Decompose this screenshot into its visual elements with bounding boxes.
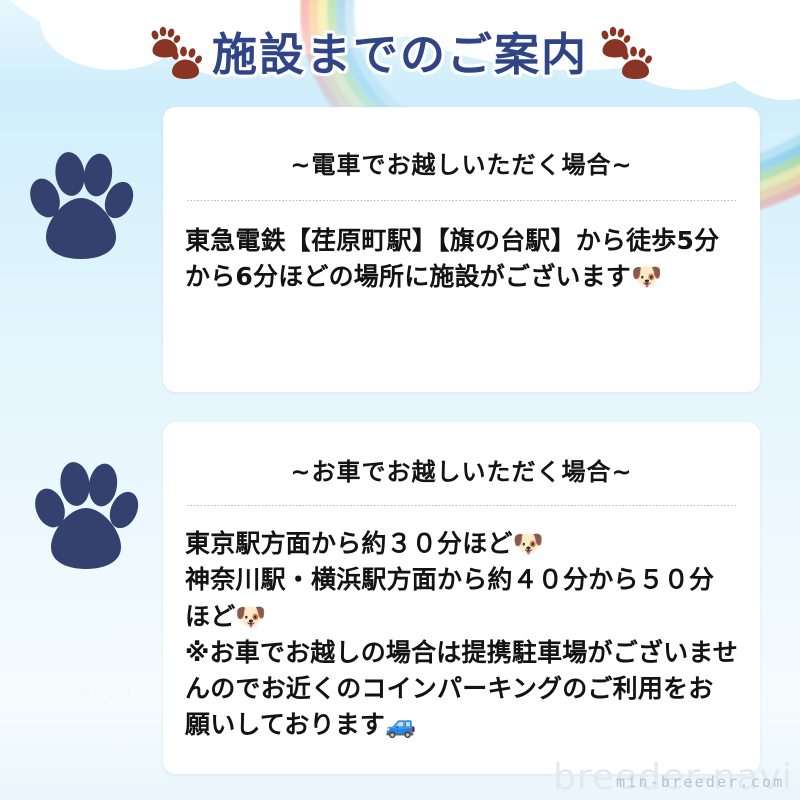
card-heading-train: ~電車でお越しいただく場合~	[163, 107, 760, 180]
page-canvas: 施設までのご案内	[0, 0, 800, 800]
card-heading-car: ~お車でお越しいただく場合~	[163, 422, 760, 487]
page-title: 施設までのご案内	[212, 32, 588, 77]
paw-print-icon-car-card	[33, 452, 139, 578]
card-body-train: 東急電鉄【荏原町駅】【旗の台駅】から徒歩5分から6分ほどの場所に施設がございます…	[163, 201, 760, 296]
card-body-car-line-3: ※お車でお越しの場合は提携駐車場がございませんのでお近くのコインパーキングのご利…	[185, 635, 738, 744]
card-body-car-line-2: 神奈川駅・横浜駅方面から約４０分から５０分ほど🐶	[185, 562, 738, 635]
watermark-faint: みんブリ	[78, 683, 134, 702]
page-header: 施設までのご案内	[0, 18, 800, 90]
info-card-train: ~電車でお越しいただく場合~ 東急電鉄【荏原町駅】【旗の台駅】から徒歩5分から6…	[163, 107, 760, 392]
watermark-secondary: min-breeder.com	[616, 773, 784, 791]
paw-print-icon-right	[596, 26, 654, 82]
card-body-car: 東京駅方面から約３０分ほど🐶 神奈川駅・横浜駅方面から約４０分から５０分ほど🐶 …	[163, 506, 760, 744]
card-body-car-line-1: 東京駅方面から約３０分ほど🐶	[185, 526, 738, 562]
paw-print-icon-left	[146, 26, 204, 82]
paw-print-icon-train-card	[28, 142, 134, 268]
info-card-car: ~お車でお越しいただく場合~ 東京駅方面から約３０分ほど🐶 神奈川駅・横浜駅方面…	[163, 422, 760, 774]
